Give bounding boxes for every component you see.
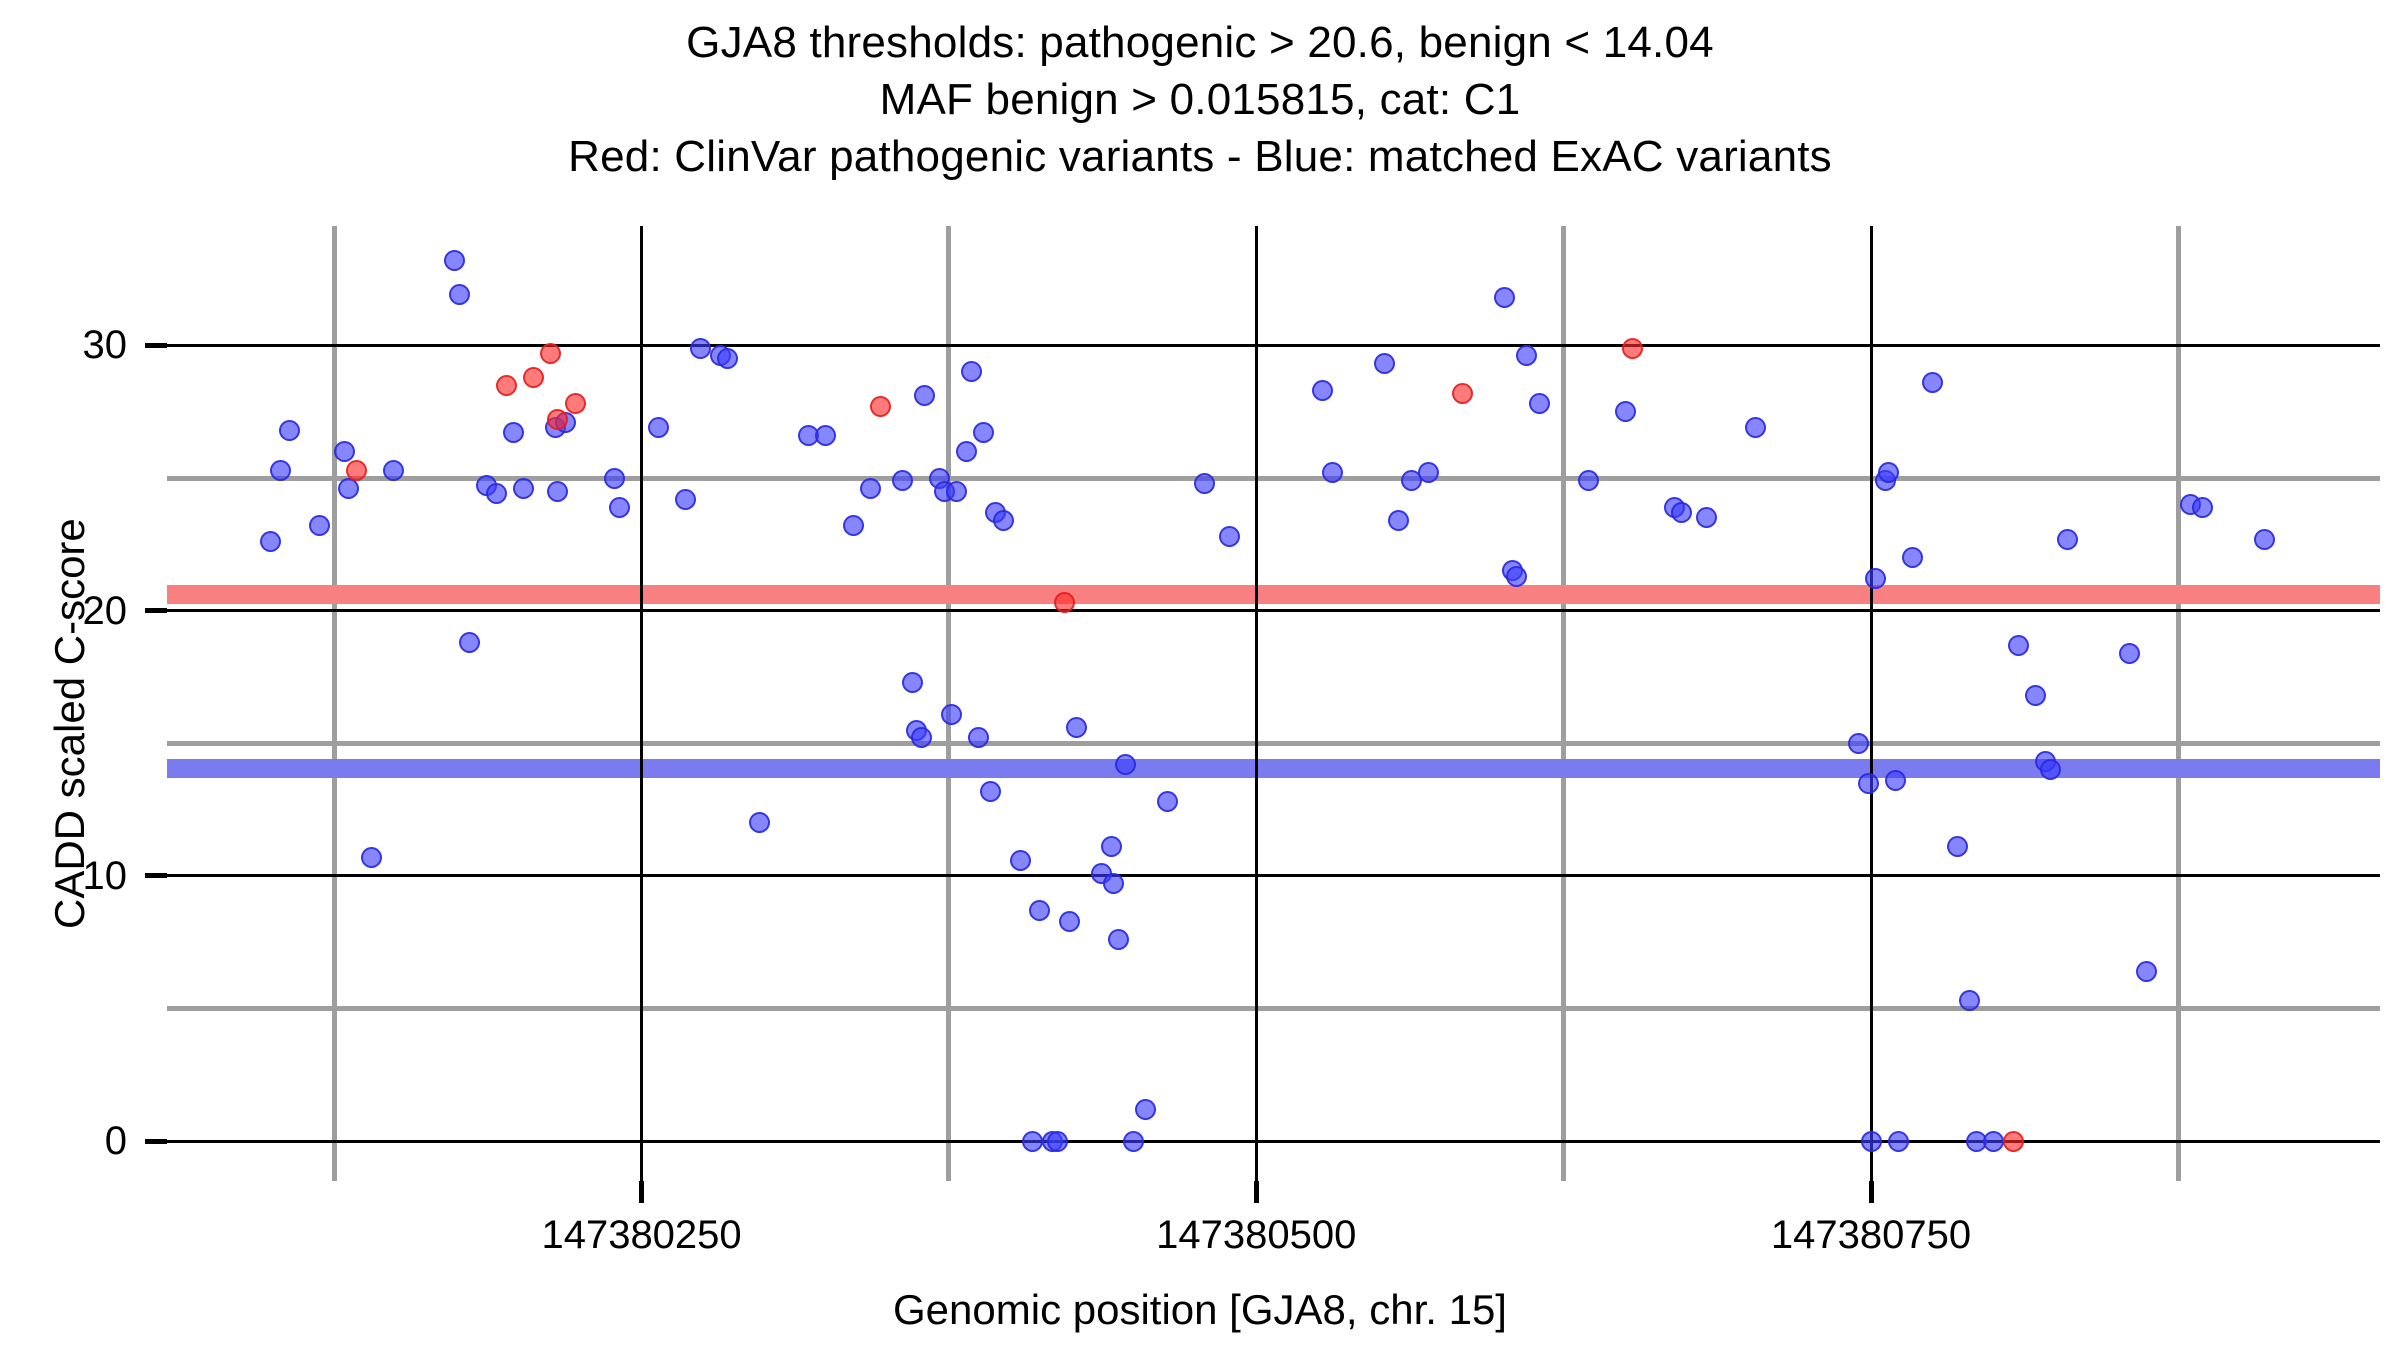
- exac-point: [609, 497, 630, 518]
- exac-point: [1101, 836, 1122, 857]
- exac-point: [892, 470, 913, 491]
- x-tick-label: 147380250: [442, 1215, 842, 1255]
- exac-point: [1745, 417, 1766, 438]
- exac-point: [1959, 990, 1980, 1011]
- exac-point: [815, 425, 836, 446]
- exac-point: [1157, 791, 1178, 812]
- exac-point: [503, 422, 524, 443]
- x-tick-mark: [1869, 1181, 1874, 1203]
- x-tick-mark: [1254, 1181, 1259, 1203]
- exac-point: [1374, 353, 1395, 374]
- exac-point: [444, 250, 465, 271]
- exac-point: [260, 531, 281, 552]
- exac-point: [1494, 287, 1515, 308]
- exac-point: [1506, 566, 1527, 587]
- exac-point: [1066, 717, 1087, 738]
- y-tick-mark: [145, 873, 167, 878]
- exac-point: [1861, 1131, 1882, 1152]
- exac-point: [459, 632, 480, 653]
- exac-point: [956, 441, 977, 462]
- pathogenic-point: [346, 460, 367, 481]
- y-axis-line: [167, 874, 2380, 877]
- pathogenic-point: [540, 343, 561, 364]
- y-tick-mark: [145, 608, 167, 613]
- y-tick-label: 30: [7, 325, 127, 365]
- exac-point: [1388, 510, 1409, 531]
- exac-point: [279, 420, 300, 441]
- exac-point: [1219, 526, 1240, 547]
- pathogenic-point: [565, 393, 586, 414]
- exac-point: [547, 481, 568, 502]
- exac-point: [309, 515, 330, 536]
- exac-point: [1858, 773, 1879, 794]
- x-tick-label: 147380750: [1671, 1215, 2071, 1255]
- exac-point: [383, 460, 404, 481]
- exac-point: [2192, 497, 2213, 518]
- exac-point: [361, 847, 382, 868]
- exac-point: [1103, 873, 1124, 894]
- exac-point: [961, 361, 982, 382]
- x-axis-line: [1870, 226, 1873, 1181]
- exac-point: [675, 489, 696, 510]
- exac-point: [1194, 473, 1215, 494]
- exac-point: [648, 417, 669, 438]
- exac-point: [338, 478, 359, 499]
- exac-point: [1947, 836, 1968, 857]
- pathogenic-point: [2003, 1131, 2024, 1152]
- exac-point: [513, 478, 534, 499]
- exac-point: [1059, 911, 1080, 932]
- exac-point: [1578, 470, 1599, 491]
- exac-point: [993, 510, 1014, 531]
- pathogenic-point: [523, 367, 544, 388]
- y-gridline: [167, 741, 2380, 746]
- exac-point: [1418, 462, 1439, 483]
- y-gridline: [167, 1006, 2380, 1011]
- exac-point: [690, 338, 711, 359]
- y-gridline: [167, 476, 2380, 481]
- exac-point: [1312, 380, 1333, 401]
- exac-point: [334, 441, 355, 462]
- exac-point: [1902, 547, 1923, 568]
- y-axis-line: [167, 344, 2380, 347]
- x-axis-line: [640, 226, 643, 1181]
- y-tick-label: 0: [7, 1121, 127, 1161]
- exac-point: [980, 781, 1001, 802]
- exac-point: [2119, 643, 2140, 664]
- exac-point: [2254, 529, 2275, 550]
- pathogenic-point: [496, 375, 517, 396]
- exac-point: [449, 284, 470, 305]
- exac-point: [1135, 1099, 1156, 1120]
- y-tick-label: 20: [7, 591, 127, 631]
- title-line-1: GJA8 thresholds: pathogenic > 20.6, beni…: [0, 14, 2400, 71]
- pathogenic-point: [1452, 383, 1473, 404]
- y-tick-mark: [145, 343, 167, 348]
- exac-point: [1696, 507, 1717, 528]
- exac-point: [1123, 1131, 1144, 1152]
- exac-point: [1047, 1131, 1068, 1152]
- pathogenic-threshold-band: [167, 585, 2380, 604]
- exac-point: [914, 385, 935, 406]
- x-tick-label: 147380500: [1056, 1215, 1456, 1255]
- exac-point: [2025, 685, 2046, 706]
- x-gridline: [2176, 226, 2181, 1181]
- pathogenic-point: [870, 396, 891, 417]
- exac-point: [486, 483, 507, 504]
- exac-point: [902, 672, 923, 693]
- exac-point: [1983, 1131, 2004, 1152]
- y-tick-mark: [145, 1139, 167, 1144]
- pathogenic-point: [1622, 338, 1643, 359]
- exac-point: [1108, 929, 1129, 950]
- x-tick-mark: [639, 1181, 644, 1203]
- exac-point: [604, 468, 625, 489]
- chart-root: GJA8 thresholds: pathogenic > 20.6, beni…: [0, 0, 2400, 1350]
- x-axis-line: [1255, 226, 1258, 1181]
- exac-point: [2008, 635, 2029, 656]
- x-gridline: [1561, 226, 1566, 1181]
- exac-point: [1888, 1131, 1909, 1152]
- exac-point: [1885, 770, 1906, 791]
- exac-point: [1615, 401, 1636, 422]
- plot-area: [167, 226, 2380, 1181]
- y-tick-label: 10: [7, 856, 127, 896]
- exac-point: [1878, 462, 1899, 483]
- exac-point: [946, 481, 967, 502]
- exac-point: [2136, 961, 2157, 982]
- title-line-3: Red: ClinVar pathogenic variants - Blue:…: [0, 128, 2400, 185]
- exac-point: [1029, 900, 1050, 921]
- y-axis-line: [167, 1140, 2380, 1143]
- exac-point: [1022, 1131, 1043, 1152]
- exac-point: [1010, 850, 1031, 871]
- exac-point: [1922, 372, 1943, 393]
- exac-point: [843, 515, 864, 536]
- exac-point: [860, 478, 881, 499]
- exac-point: [270, 460, 291, 481]
- exac-point: [749, 812, 770, 833]
- x-axis-label: Genomic position [GJA8, chr. 15]: [0, 1286, 2400, 1334]
- chart-title: GJA8 thresholds: pathogenic > 20.6, beni…: [0, 14, 2400, 186]
- exac-point: [941, 704, 962, 725]
- exac-point: [973, 422, 994, 443]
- y-axis-line: [167, 609, 2380, 612]
- exac-point: [1516, 345, 1537, 366]
- exac-point: [1671, 502, 1692, 523]
- exac-point: [2057, 529, 2078, 550]
- exac-point: [1529, 393, 1550, 414]
- exac-point: [717, 348, 738, 369]
- exac-point: [1848, 733, 1869, 754]
- x-gridline: [332, 226, 337, 1181]
- title-line-2: MAF benign > 0.015815, cat: C1: [0, 71, 2400, 128]
